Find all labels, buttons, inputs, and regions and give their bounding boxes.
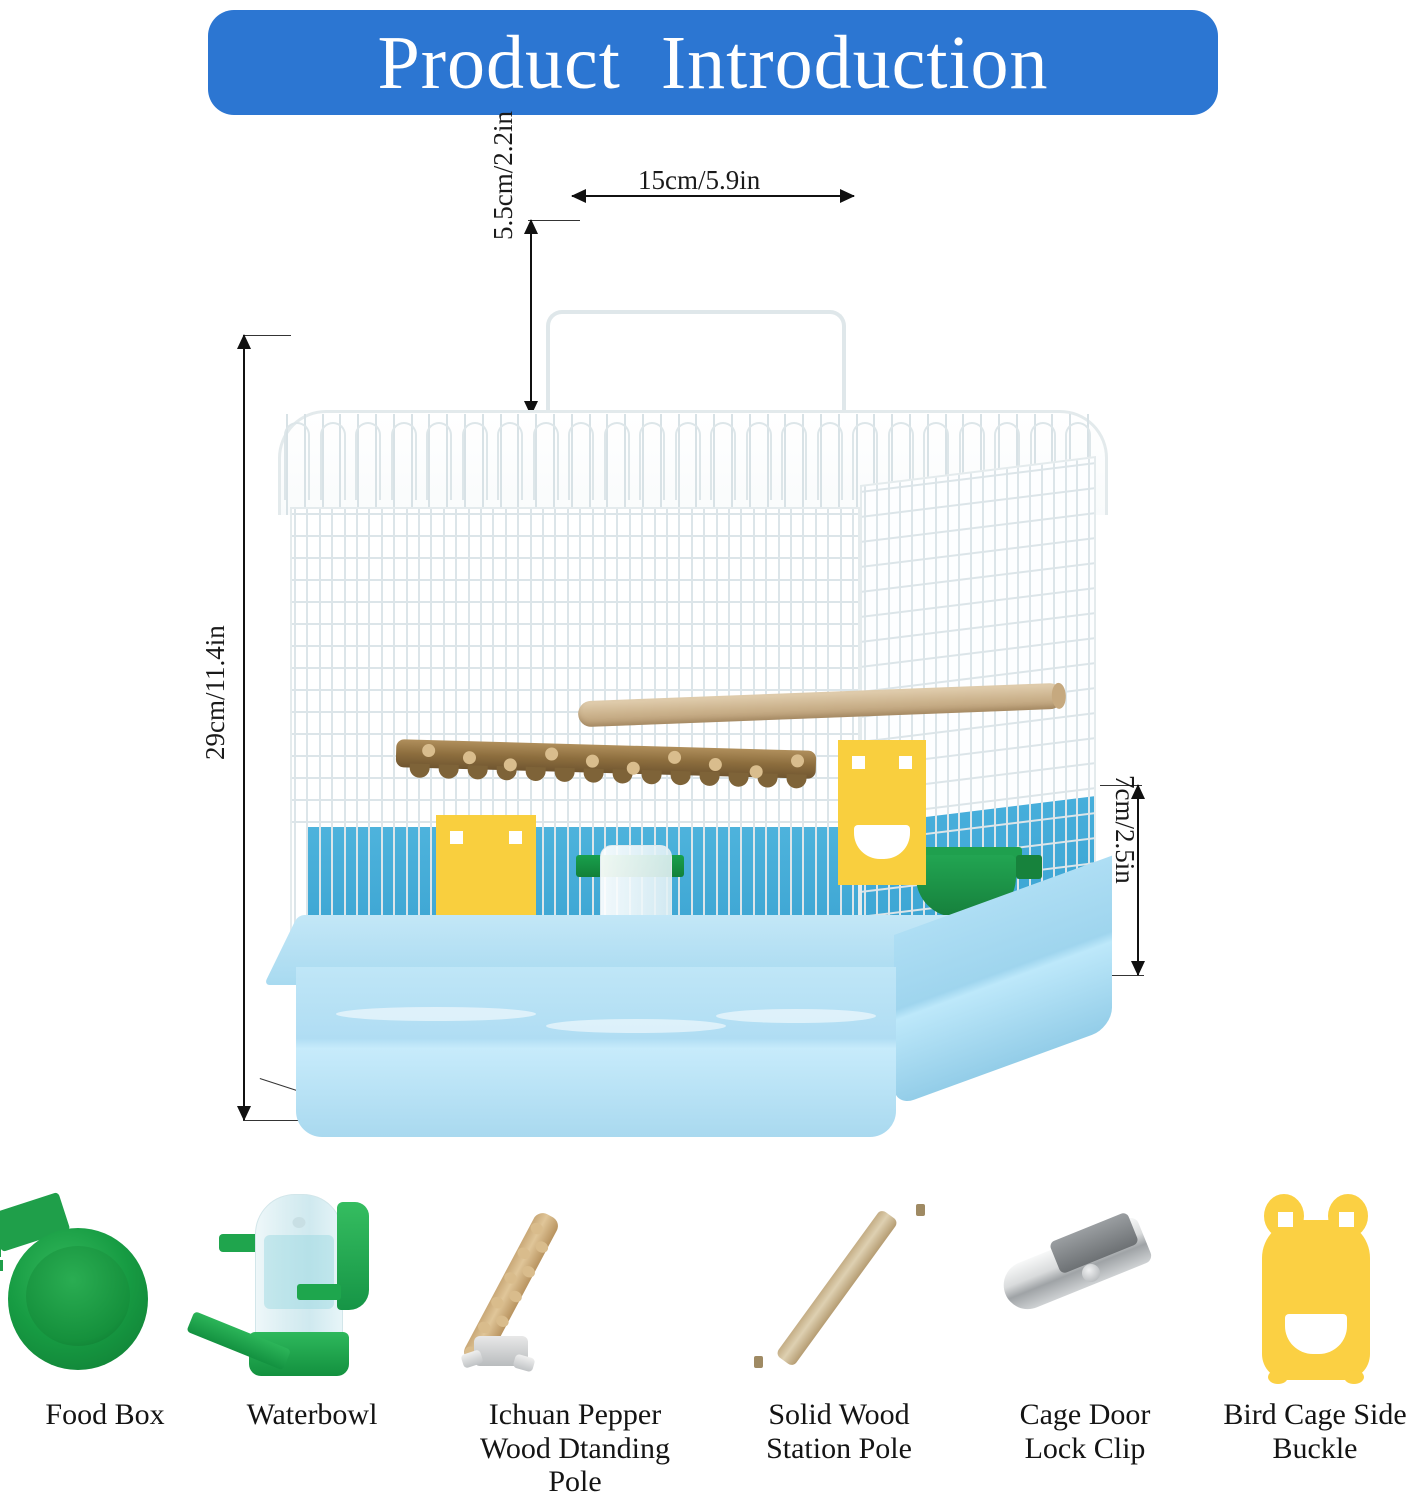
buckle-hole-right xyxy=(509,831,522,844)
accessory-waterbowl: Waterbowl xyxy=(193,1180,431,1500)
tray-contour-3 xyxy=(716,1009,876,1023)
product-diagram: 15cm/5.9in 5.5cm/2.2in 29cm/11.4in 7cm/2… xyxy=(0,120,1426,1160)
pepper-wood-pole-image xyxy=(456,1180,694,1395)
waterbowl-clip-left xyxy=(219,1234,259,1252)
buckle-hole-left xyxy=(1278,1212,1293,1227)
clip-tooth xyxy=(0,1260,3,1271)
accessory-food-box: Food Box xyxy=(0,1180,224,1500)
clip-tooth xyxy=(0,1232,1,1243)
waterbowl-bottle xyxy=(255,1194,343,1346)
solid-wood-dowel xyxy=(775,1209,899,1368)
buckle-hole-left xyxy=(450,831,463,844)
buckle-foot-left xyxy=(1268,1370,1288,1384)
accessory-solid-wood-pole: Solid Wood Station Pole xyxy=(720,1180,958,1500)
buckle-foot-right xyxy=(1344,1370,1364,1384)
clip-tooth xyxy=(0,1246,1,1257)
tray-contour-1 xyxy=(336,1007,536,1021)
food-box-interior xyxy=(26,1246,130,1346)
dimension-arrow-handle-width xyxy=(572,195,854,197)
cage-front-panel xyxy=(290,507,860,947)
waterbowl-cap-nub xyxy=(293,1217,306,1228)
side-buckle-image xyxy=(1196,1180,1426,1395)
accessory-label-waterbowl: Waterbowl xyxy=(193,1398,431,1432)
side-buckle-shape xyxy=(1262,1194,1370,1380)
buckle-hole-right xyxy=(1339,1212,1354,1227)
dowel-notch-top xyxy=(916,1204,925,1216)
bird-cage-illustration xyxy=(278,335,1108,1035)
accessory-label-solid-wood-pole: Solid Wood Station Pole xyxy=(720,1398,958,1465)
dowel-notch-bottom xyxy=(754,1356,763,1368)
nut-wing-right xyxy=(512,1354,535,1373)
header-banner: Product Introduction xyxy=(208,10,1218,115)
cage-bottom-tray xyxy=(274,915,1112,1165)
cage-side-buckle-rear xyxy=(838,740,926,885)
dimension-arrow-cage-height xyxy=(243,335,245,1120)
buckle-body xyxy=(1262,1220,1370,1380)
feeder-cup-tab xyxy=(1016,855,1042,879)
buckle-hole-left xyxy=(852,756,865,769)
dimension-label-handle-width: 15cm/5.9in xyxy=(638,165,760,196)
buckle-hole-right xyxy=(899,756,912,769)
accessory-bird-cage-side-buckle: Bird Cage Side Buckle xyxy=(1196,1180,1426,1500)
accessory-cage-door-lock-clip: Cage Door Lock Clip xyxy=(966,1180,1204,1500)
accessory-label-pepper-wood-pole: Ichuan Pepper Wood Dtanding Pole xyxy=(456,1398,694,1499)
dimension-label-handle-height: 5.5cm/2.2in xyxy=(488,111,519,240)
waterbowl-image xyxy=(193,1180,431,1395)
lock-clip-image xyxy=(966,1180,1204,1395)
accessory-label-cage-door-lock-clip: Cage Door Lock Clip xyxy=(966,1398,1204,1465)
waterbowl-spout xyxy=(297,1284,341,1300)
accessory-label-bird-cage-side-buckle: Bird Cage Side Buckle xyxy=(1196,1398,1426,1465)
accessory-pepper-wood-pole: Ichuan Pepper Wood Dtanding Pole xyxy=(456,1180,694,1500)
tray-front-face xyxy=(296,967,896,1137)
page-title: Product Introduction xyxy=(377,25,1048,101)
dimension-label-cage-height: 29cm/11.4in xyxy=(200,625,231,760)
dimension-arrow-tray-height xyxy=(1137,785,1139,975)
solid-wood-pole-image xyxy=(720,1180,958,1395)
accessory-label-food-box: Food Box xyxy=(0,1398,224,1432)
guide-line-handle-top xyxy=(528,220,580,221)
waterbowl-clip-right xyxy=(337,1202,369,1310)
lock-clip-pivot-pin xyxy=(1082,1264,1100,1282)
tray-contour-2 xyxy=(546,1019,726,1033)
accessory-row: Food Box Waterbowl Ichuan Pepper Wood Dt… xyxy=(0,1180,1426,1500)
food-box-image xyxy=(0,1180,224,1395)
